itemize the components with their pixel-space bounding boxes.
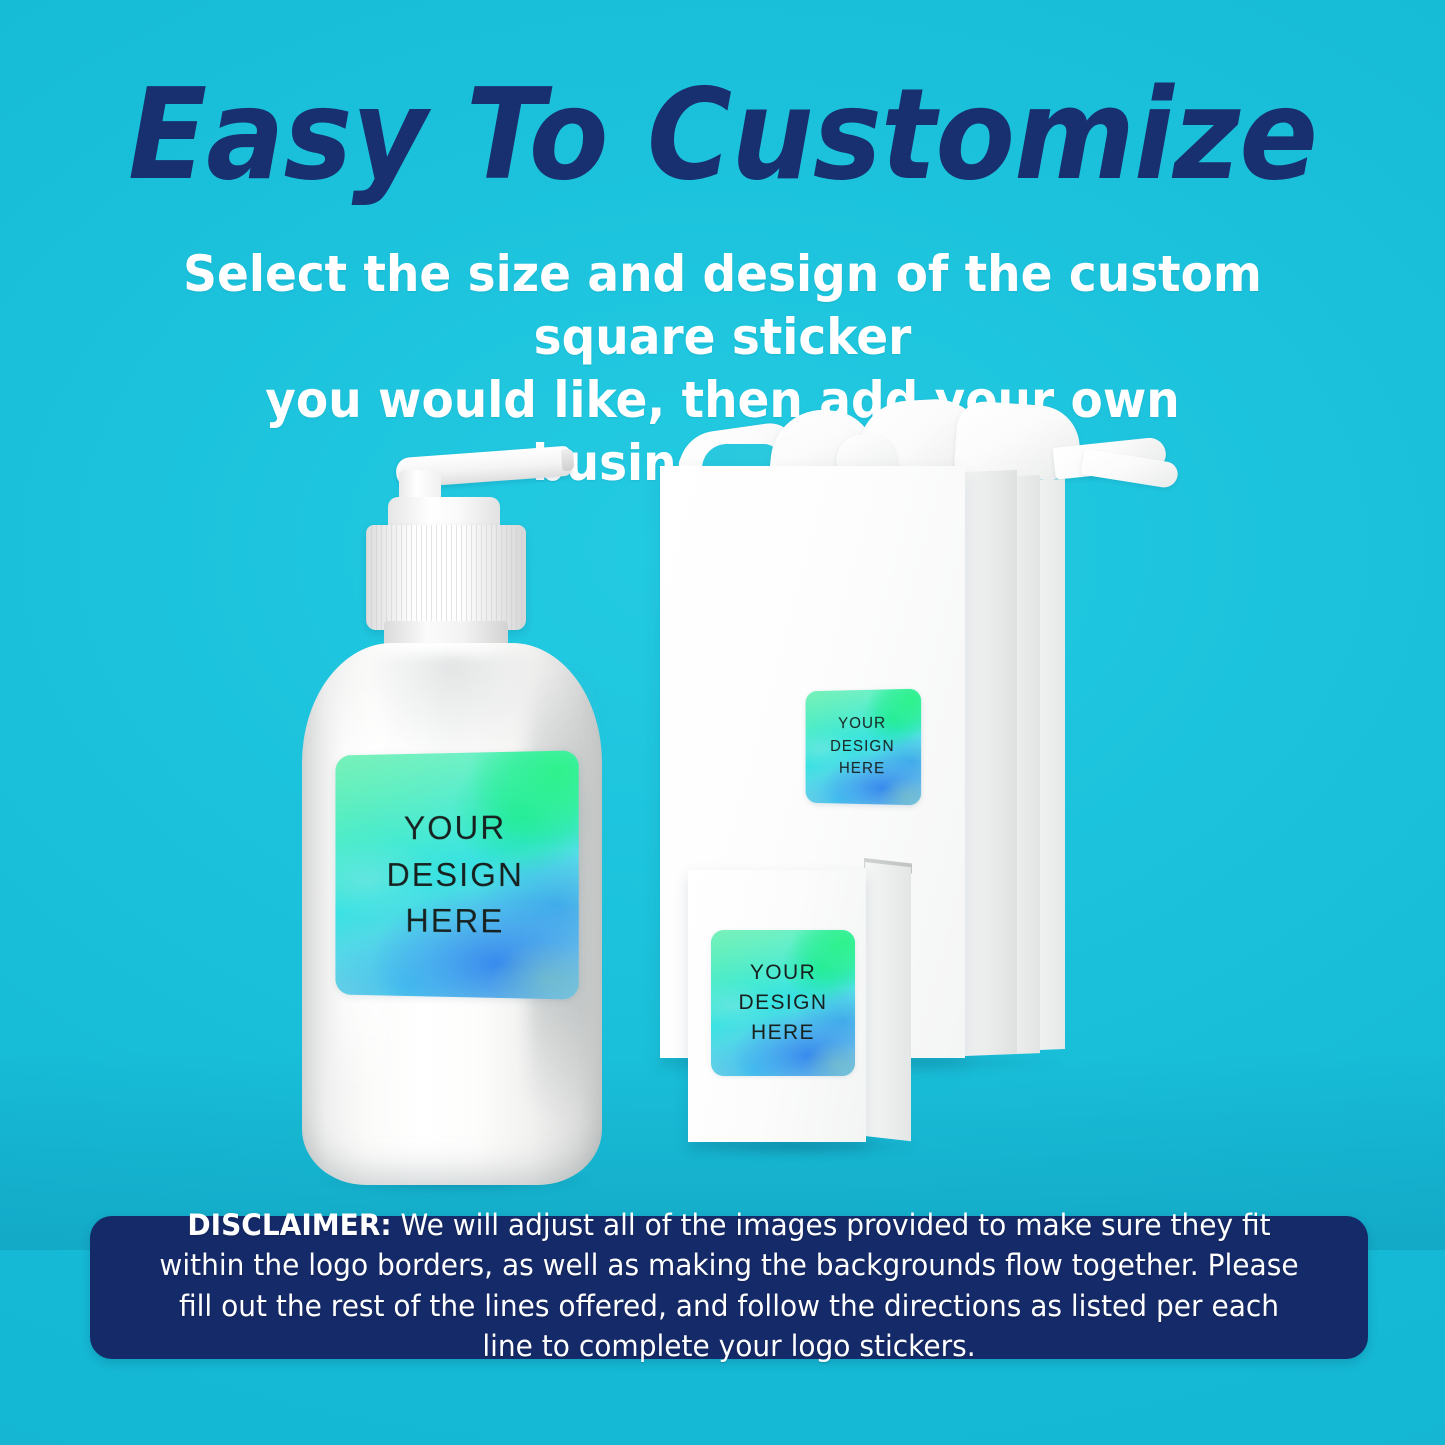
bottle-label-sticker[interactable]: YOUR DESIGN HERE [335, 750, 578, 999]
small-box-sticker-line-1: YOUR [750, 958, 816, 988]
bottle-label-line-2: DESIGN [387, 851, 525, 898]
small-box-sticker[interactable]: YOUR DESIGN HERE [711, 930, 855, 1076]
promo-banner: Easy To Customize Select the size and de… [0, 0, 1445, 1445]
subtitle-line-1: Select the size and design of the custom… [147, 243, 1299, 369]
pump-dispenser-bottle: YOUR DESIGN HERE [296, 425, 608, 1185]
small-product-box: YOUR DESIGN HERE [688, 856, 948, 1156]
giftbox-side-panel-1 [965, 470, 1017, 1056]
gift-box-sticker[interactable]: YOUR DESIGN HERE [806, 689, 921, 806]
smallbox-side-panel [865, 862, 911, 1141]
bottle-label-line-3: HERE [405, 898, 504, 946]
disclaimer-text: DISCLAIMER: We will adjust all of the im… [154, 1205, 1304, 1365]
gift-box-sticker-line-2: DESIGN [830, 736, 895, 759]
giftbox-side-panel-2 [1016, 475, 1040, 1054]
small-box-sticker-text: YOUR DESIGN HERE [711, 930, 855, 1076]
pump-ribbed-collar [366, 525, 526, 630]
gift-box-sticker-line-3: HERE [839, 758, 885, 781]
disclaimer-banner: DISCLAIMER: We will adjust all of the im… [90, 1216, 1368, 1359]
gift-box-sticker-text: YOUR DESIGN HERE [806, 689, 921, 806]
small-box-sticker-line-2: DESIGN [739, 988, 828, 1018]
gift-box-sticker-line-1: YOUR [838, 713, 886, 736]
bottle-label-text: YOUR DESIGN HERE [335, 750, 578, 999]
giftbox-side-panel-3 [1039, 479, 1065, 1050]
page-title: Easy To Customize [58, 72, 1387, 198]
disclaimer-label: DISCLAIMER: [187, 1208, 391, 1242]
small-box-sticker-line-3: HERE [751, 1018, 815, 1048]
bottle-label-line-1: YOUR [404, 804, 507, 852]
